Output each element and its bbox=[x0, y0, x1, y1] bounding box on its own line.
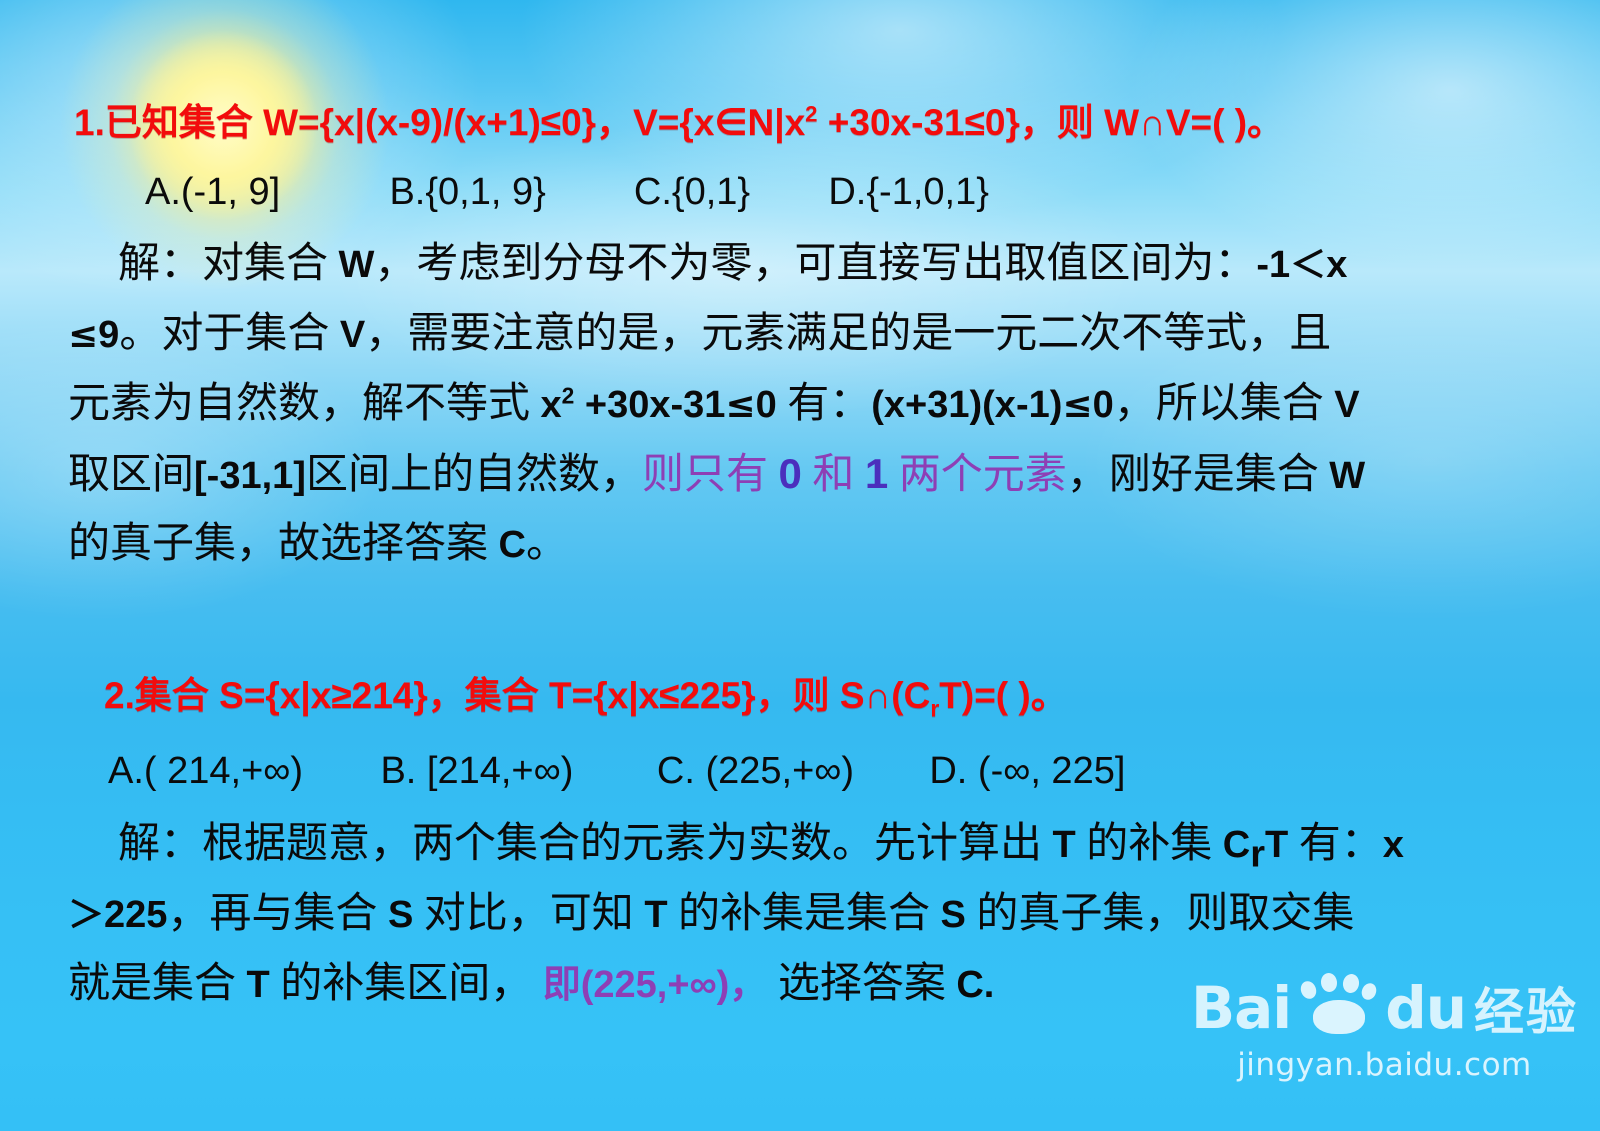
text-fragment: 的真子集，则取交集 bbox=[966, 891, 1355, 937]
problem1-statement: 1.已知集合 W={x|(x-9)/(x+1)≤0}，V={x∈N|x2 +30… bbox=[74, 104, 1284, 141]
text-fragment: 9 bbox=[98, 314, 119, 356]
problem2-option-c[interactable]: C. (225,+∞) bbox=[657, 752, 925, 790]
text-fragment: 选择答案 bbox=[767, 961, 956, 1007]
problem1-solution-line-1: 解：对集合 W，考虑到分母不为零，可直接写出取值区间为：-1＜x bbox=[118, 243, 1347, 285]
text-fragment: 0 bbox=[756, 384, 777, 426]
text-fragment: 。对于集合 bbox=[119, 311, 340, 357]
text-fragment: 。 bbox=[526, 521, 568, 567]
problem2-solution-line-1: 解：根据题意，两个集合的元素为实数。先计算出 T 的补集 CrT 有：x bbox=[118, 823, 1404, 865]
highlight-number: 0 bbox=[778, 450, 801, 497]
problem2-statement-head: 2.集合 S={x|x≥214}，集合 T={x|x≤225}，则 S∩(C bbox=[104, 675, 930, 716]
slide-canvas: 1.已知集合 W={x|(x-9)/(x+1)≤0}，V={x∈N|x2 +30… bbox=[0, 0, 1600, 1131]
less-than-symbol: ＜ bbox=[1290, 245, 1326, 286]
text-fragment: ，刚好是集合 bbox=[1067, 452, 1330, 498]
text-fragment: 元素为自然数，解不等式 bbox=[68, 381, 541, 427]
text-fragment: ，所以集合 bbox=[1114, 381, 1335, 427]
text-fragment: 0 bbox=[1093, 384, 1114, 426]
text-fragment: T bbox=[1265, 824, 1288, 866]
highlight-number: 1 bbox=[865, 450, 888, 497]
text-fragment: ，考虑到分母不为零，可直接写出取值区间为： bbox=[374, 241, 1256, 287]
problem2-option-a[interactable]: A.( 214,+∞) bbox=[108, 752, 376, 790]
text-fragment: S bbox=[941, 894, 966, 936]
text-fragment: -1 bbox=[1256, 244, 1290, 286]
text-fragment: 的补集是集合 bbox=[668, 891, 941, 937]
problem1-option-b[interactable]: B.{0,1, 9} bbox=[389, 173, 629, 211]
interval-notation: [-31,1] bbox=[194, 455, 306, 497]
problem1-statement-superscript: 2 bbox=[805, 102, 817, 127]
answer-letter: C. bbox=[956, 964, 994, 1006]
text-fragment: 解：根据题意，两个集合的元素为实数。先计算出 bbox=[118, 821, 1053, 867]
text-fragment: T bbox=[644, 894, 667, 936]
problem1-options: A.(-1, 9] B.{0,1, 9} C.{0,1} D.{-1,0,1} bbox=[145, 173, 989, 211]
problem1-option-c[interactable]: C.{0,1} bbox=[634, 173, 824, 211]
problem1-solution-line-4: 取区间[-31,1]区间上的自然数，则只有 0 和 1 两个元素，刚好是集合 W bbox=[68, 453, 1365, 496]
highlight-fragment: 两个元素 bbox=[888, 452, 1067, 498]
problem1-option-d[interactable]: D.{-1,0,1} bbox=[828, 173, 989, 211]
text-fragment: 有： bbox=[777, 381, 872, 427]
text-fragment: T bbox=[247, 964, 270, 1006]
text-fragment: 取区间 bbox=[68, 452, 194, 498]
problem2-option-b[interactable]: B. [214,+∞) bbox=[380, 752, 652, 790]
highlight-fragment: 和 bbox=[802, 452, 865, 498]
problem2-solution-line-3: 就是集合 T 的补集区间， 即(225,+∞)， 选择答案 C. bbox=[68, 963, 994, 1005]
problem2-statement: 2.集合 S={x|x≥214}，集合 T={x|x≤225}，则 S∩(CrT… bbox=[104, 677, 1068, 714]
answer-letter: C bbox=[499, 524, 526, 566]
text-fragment: V bbox=[1334, 384, 1359, 426]
complement-symbol: C bbox=[1223, 824, 1250, 866]
problem1-solution-line-2: ≤9。对于集合 V，需要注意的是，元素满足的是一元二次不等式，且 bbox=[68, 313, 1331, 355]
text-fragment: 的真子集，故选择答案 bbox=[68, 521, 499, 567]
text-fragment: 对比，可知 bbox=[413, 891, 644, 937]
text-fragment: ，需要注意的是，元素满足的是一元二次不等式，且 bbox=[365, 311, 1331, 357]
problem2-solution-line-2: ＞225，再与集合 S 对比，可知 T 的补集是集合 S 的真子集，则取交集 bbox=[68, 893, 1354, 935]
text-fragment: T bbox=[1053, 824, 1076, 866]
complement-subscript: r bbox=[1250, 833, 1265, 875]
text-fragment: 有： bbox=[1288, 821, 1383, 867]
text-fragment: x bbox=[1326, 244, 1347, 286]
text-fragment: 的补集 bbox=[1076, 821, 1223, 867]
greater-than-symbol: ＞ bbox=[68, 895, 104, 936]
text-fragment: 就是集合 bbox=[68, 961, 247, 1007]
problem1-option-a[interactable]: A.(-1, 9] bbox=[145, 173, 385, 211]
problem2-option-d[interactable]: D. (-∞, 225] bbox=[929, 752, 1125, 790]
text-fragment: (x+31)(x-1) bbox=[871, 384, 1062, 426]
slide-content: 1.已知集合 W={x|(x-9)/(x+1)≤0}，V={x∈N|x2 +30… bbox=[0, 0, 1600, 1131]
text-fragment: 225 bbox=[104, 894, 167, 936]
less-or-equal-symbol: ≤ bbox=[725, 385, 755, 426]
quadratic-expression: x2 +30x-31 bbox=[541, 384, 726, 426]
problem2-statement-tail: T)=( )。 bbox=[939, 675, 1067, 716]
less-or-equal-symbol: ≤ bbox=[1062, 385, 1092, 426]
text-fragment: 解：对集合 bbox=[118, 241, 339, 287]
text-fragment: 的补集区间， bbox=[270, 961, 543, 1007]
text-fragment: ，再与集合 bbox=[167, 891, 388, 937]
problem1-solution-line-3: 元素为自然数，解不等式 x2 +30x-31≤0 有：(x+31)(x-1)≤0… bbox=[68, 383, 1360, 425]
problem1-statement-head: 1.已知集合 W={x|(x-9)/(x+1)≤0}，V={x∈N|x bbox=[74, 102, 805, 143]
text-fragment: W bbox=[339, 244, 375, 286]
highlight-fragment: 则只有 bbox=[642, 452, 779, 498]
problem2-statement-subscript: r bbox=[930, 695, 939, 721]
text-fragment: V bbox=[340, 314, 365, 356]
text-fragment: x bbox=[1383, 824, 1404, 866]
problem1-solution-line-5: 的真子集，故选择答案 C。 bbox=[68, 523, 568, 565]
less-or-equal-symbol: ≤ bbox=[68, 315, 98, 356]
text-fragment: S bbox=[388, 894, 413, 936]
text-fragment: 区间上的自然数， bbox=[306, 452, 642, 498]
text-fragment: W bbox=[1329, 455, 1365, 497]
highlight-interval: 即(225,+∞)， bbox=[543, 964, 768, 1006]
problem2-options: A.( 214,+∞) B. [214,+∞) C. (225,+∞) D. (… bbox=[108, 752, 1125, 790]
problem1-statement-tail: +30x-31≤0}，则 W∩V=( )。 bbox=[818, 102, 1285, 143]
